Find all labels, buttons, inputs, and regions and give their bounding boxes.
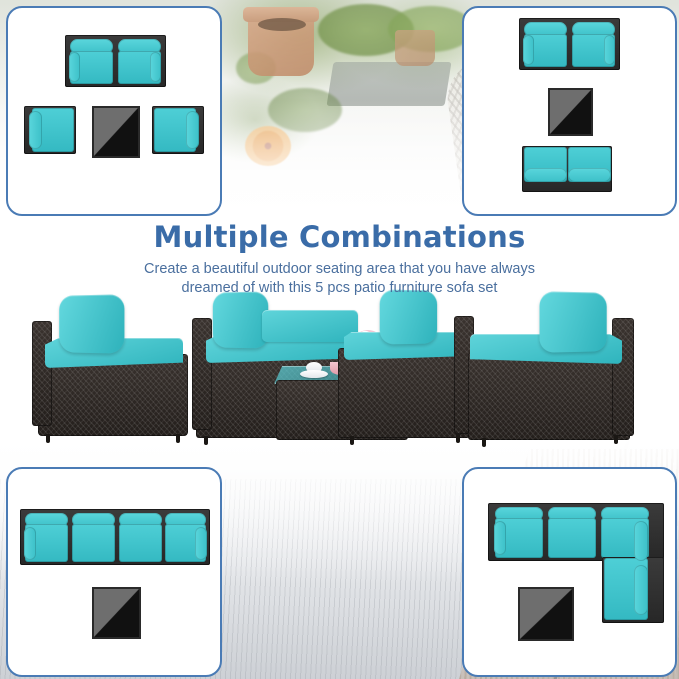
page-title: Multiple Combinations xyxy=(0,222,679,254)
headline-block: Multiple Combinations Create a beautiful… xyxy=(0,222,679,298)
diagram-coffee-table xyxy=(548,88,593,136)
subtitle-line-1: Create a beautiful outdoor seating area … xyxy=(0,260,679,279)
panel-configuration-bottom-left[interactable] xyxy=(6,467,222,677)
panel-configuration-top-left[interactable] xyxy=(6,6,222,216)
diagram-coffee-table xyxy=(92,106,140,158)
subtitle-line-2: dreamed of with this 5 pcs patio furnitu… xyxy=(0,279,679,298)
product-infographic: Multiple Combinations Create a beautiful… xyxy=(0,0,679,679)
diagram-coffee-table xyxy=(518,587,574,641)
panel-configuration-bottom-right[interactable] xyxy=(462,467,677,677)
hero-product-photo xyxy=(0,288,679,458)
panel-configuration-top-right[interactable] xyxy=(462,6,677,216)
diagram-coffee-table xyxy=(92,587,141,639)
saucer xyxy=(300,370,328,378)
